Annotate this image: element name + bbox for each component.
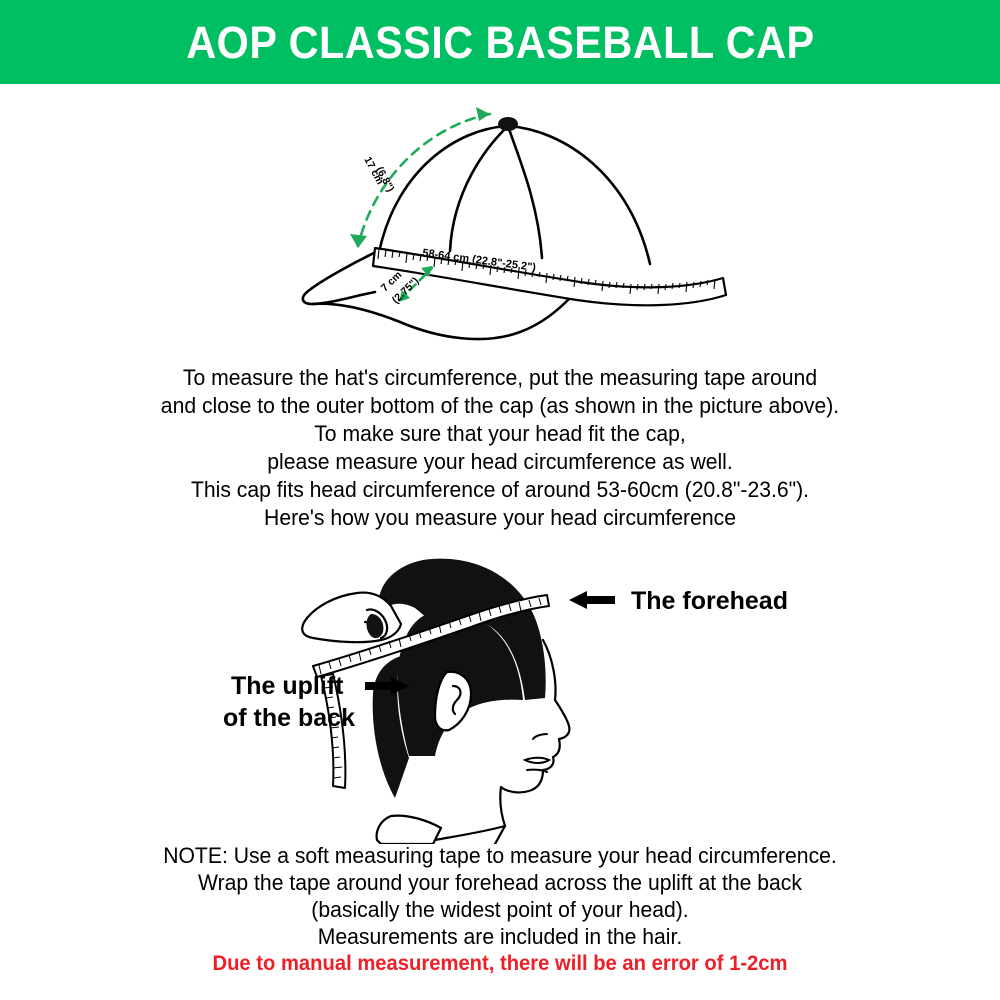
- instruction-line-4: please measure your head circumference a…: [30, 448, 970, 476]
- cap-seam-2: [508, 126, 542, 258]
- cap-crown-right-edge: [508, 126, 650, 264]
- note-warning: Due to manual measurement, there will be…: [30, 950, 970, 977]
- cap-brim-bottom: [312, 298, 570, 339]
- uplift-label-line-2: of the back: [223, 704, 355, 732]
- instruction-line-1: To measure the hat's circumference, put …: [30, 364, 970, 392]
- note-line-1: NOTE: Use a soft measuring tape to measu…: [30, 842, 970, 869]
- cap-diagram-svg: 58-64 cm (22.8"-25.2") 17 cm (6.8") 7 cm…: [280, 96, 750, 346]
- cap-diagram: 58-64 cm (22.8"-25.2") 17 cm (6.8") 7 cm…: [280, 96, 750, 346]
- head-lips: [525, 758, 549, 763]
- head-nostril: [533, 734, 547, 739]
- instructions-text: To measure the hat's circumference, put …: [0, 364, 1000, 532]
- cap-brim-top-left: [303, 250, 380, 304]
- header-banner: AOP CLASSIC BASEBALL CAP: [0, 0, 1000, 84]
- head-lower-lip: [527, 770, 547, 772]
- cap-seam-1: [450, 126, 508, 251]
- forehead-arrow-icon: [569, 591, 615, 609]
- instruction-line-2: and close to the outer bottom of the cap…: [30, 392, 970, 420]
- note-line-4: Measurements are included in the hair.: [30, 923, 970, 950]
- instruction-line-3: To make sure that your head fit the cap,: [30, 420, 970, 448]
- head-ear-outline: [435, 672, 471, 731]
- head-shoulder: [377, 816, 441, 844]
- forehead-label: The forehead: [631, 587, 788, 615]
- note-text: NOTE: Use a soft measuring tape to measu…: [0, 842, 1000, 977]
- note-line-3: (basically the widest point of your head…: [30, 896, 970, 923]
- page-title: AOP CLASSIC BASEBALL CAP: [186, 20, 814, 65]
- size-chart-page: AOP CLASSIC BASEBALL CAP: [0, 0, 1000, 1000]
- head-diagram-svg: The forehead The uplift of the back: [195, 548, 825, 844]
- instruction-line-6: Here's how you measure your head circumf…: [30, 504, 970, 532]
- head-diagram: The forehead The uplift of the back: [195, 548, 825, 844]
- instruction-line-5: This cap fits head circumference of arou…: [30, 476, 970, 504]
- note-line-2: Wrap the tape around your forehead acros…: [30, 869, 970, 896]
- cap-crown-left-edge: [380, 126, 508, 248]
- cap-top-button-icon: [498, 117, 518, 131]
- uplift-label-line-1: The uplift: [231, 672, 344, 700]
